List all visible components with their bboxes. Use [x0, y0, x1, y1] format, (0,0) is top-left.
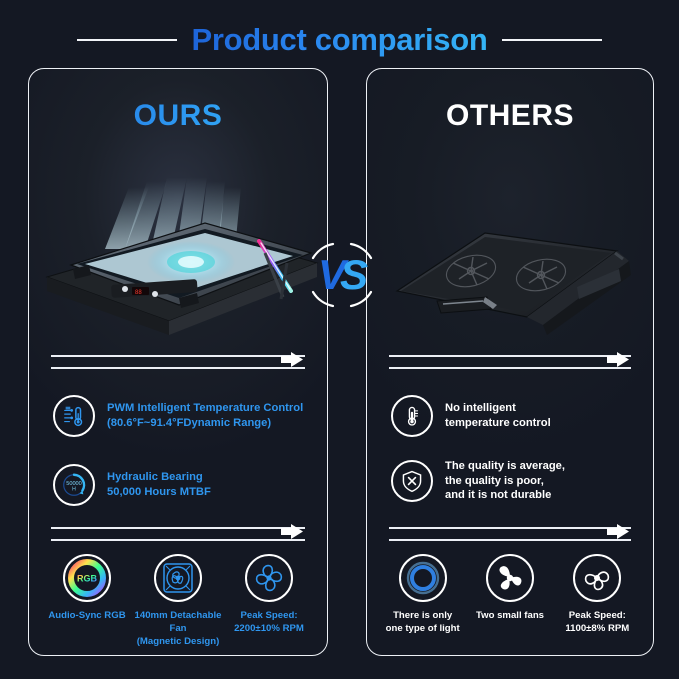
vs-letter-s: S	[340, 251, 366, 299]
rgb-ring-icon: RGB	[62, 553, 112, 603]
spec-item-ours-3: Peak Speed: 2200±10% RPM	[225, 553, 313, 649]
shield-x-icon	[391, 460, 433, 502]
spec-line: (Magnetic Design)	[134, 636, 222, 649]
spec-trio-others: There is only one type of light	[379, 553, 641, 636]
single-light-ring-icon	[398, 553, 448, 603]
product-comparison-infographic: Product comparison OURS	[0, 0, 679, 679]
divider-line	[389, 539, 631, 541]
divider-others-bottom	[389, 525, 631, 543]
feature-line: Hydraulic Bearing	[107, 470, 211, 485]
spec-trio-ours: RGB Audio-Sync RGB	[43, 553, 313, 649]
detachable-fan-icon	[153, 553, 203, 603]
spec-label-others-1: There is only one type of light	[386, 610, 460, 636]
hydraulic-bearing-gauge-icon: 50000 H	[53, 464, 95, 506]
spec-line: 2200±10% RPM	[234, 623, 304, 636]
spec-line: one type of light	[386, 623, 460, 636]
feature-line: (80.6°F~91.4°FDynamic Range)	[107, 416, 303, 431]
divider-line	[51, 367, 305, 369]
fan-speed-icon	[572, 553, 622, 603]
spec-label-ours-3: Peak Speed: 2200±10% RPM	[234, 610, 304, 636]
spec-item-others-3: Peak Speed: 1100±8% RPM	[554, 553, 641, 636]
divider-ours-bottom	[51, 525, 305, 543]
panel-others: OTHERS	[366, 68, 654, 656]
spec-item-ours-2: 140mm Detachable Fan (Magnetic Design)	[134, 553, 222, 649]
svg-text:RGB: RGB	[77, 574, 98, 584]
product-image-ours: 88	[29, 165, 327, 355]
feature-line: The quality is average,	[445, 459, 565, 474]
spec-label-others-2: Two small fans	[476, 610, 544, 623]
panel-heading-ours: OURS	[29, 99, 327, 133]
spec-line: Peak Speed:	[234, 610, 304, 623]
small-fan-icon	[485, 553, 535, 603]
divider-line	[389, 527, 631, 529]
title-rule-left	[77, 39, 177, 41]
panel-ours: OURS	[28, 68, 328, 656]
spec-item-ours-1: RGB Audio-Sync RGB	[43, 553, 131, 649]
feature-row-others-1: No intelligent temperature control	[391, 395, 641, 437]
spec-item-others-2: Two small fans	[466, 553, 553, 636]
panel-heading-others: OTHERS	[367, 99, 653, 133]
arrow-right-icon	[605, 523, 631, 545]
fan-speed-icon	[244, 553, 294, 603]
feature-line: PWM Intelligent Temperature Control	[107, 401, 303, 416]
divider-line	[389, 355, 631, 357]
arrow-right-icon	[605, 351, 631, 373]
feature-line: 50,000 Hours MTBF	[107, 485, 211, 500]
temperature-control-icon	[53, 395, 95, 437]
spec-item-others-1: There is only one type of light	[379, 553, 466, 636]
feature-text-others-2: The quality is average, the quality is p…	[445, 459, 565, 503]
feature-line: temperature control	[445, 416, 551, 431]
divider-others-top	[389, 353, 631, 371]
feature-line: the quality is poor,	[445, 474, 565, 489]
spec-label-ours-2: 140mm Detachable Fan (Magnetic Design)	[134, 610, 222, 649]
feature-text-ours-1: PWM Intelligent Temperature Control (80.…	[107, 401, 303, 430]
feature-row-ours-2: 50000 H Hydraulic Bearing 50,000 Hours M…	[53, 464, 315, 506]
feature-text-ours-2: Hydraulic Bearing 50,000 Hours MTBF	[107, 470, 211, 499]
divider-line	[51, 355, 305, 357]
arrow-right-icon	[279, 351, 305, 373]
feature-text-others-1: No intelligent temperature control	[445, 401, 551, 430]
spec-line: There is only	[386, 610, 460, 623]
svg-text:H: H	[72, 487, 76, 493]
thermometer-icon	[391, 395, 433, 437]
feature-row-others-2: The quality is average, the quality is p…	[391, 459, 641, 503]
spec-label-others-3: Peak Speed: 1100±8% RPM	[565, 610, 629, 636]
divider-ours-top	[51, 353, 305, 371]
feature-line: No intelligent	[445, 401, 551, 416]
arrow-right-icon	[279, 523, 305, 545]
title-rule-right	[502, 39, 602, 41]
divider-line	[389, 367, 631, 369]
divider-line	[51, 527, 305, 529]
spec-line: Peak Speed:	[565, 610, 629, 623]
spec-line: 1100±8% RPM	[565, 623, 629, 636]
vs-label: V S	[305, 238, 379, 312]
vs-badge: V S	[305, 238, 379, 312]
spec-line: 140mm Detachable Fan	[134, 610, 222, 636]
feature-line: and it is not durable	[445, 488, 565, 503]
svg-text:88: 88	[135, 290, 142, 296]
feature-row-ours-1: PWM Intelligent Temperature Control (80.…	[53, 395, 315, 437]
spec-label-ours-1: Audio-Sync RGB	[48, 610, 125, 623]
page-title-row: Product comparison	[0, 18, 679, 62]
spec-line: Audio-Sync RGB	[48, 610, 125, 623]
spec-line: Two small fans	[476, 610, 544, 623]
divider-line	[51, 539, 305, 541]
product-image-others	[367, 209, 653, 339]
page-title: Product comparison	[191, 22, 487, 58]
